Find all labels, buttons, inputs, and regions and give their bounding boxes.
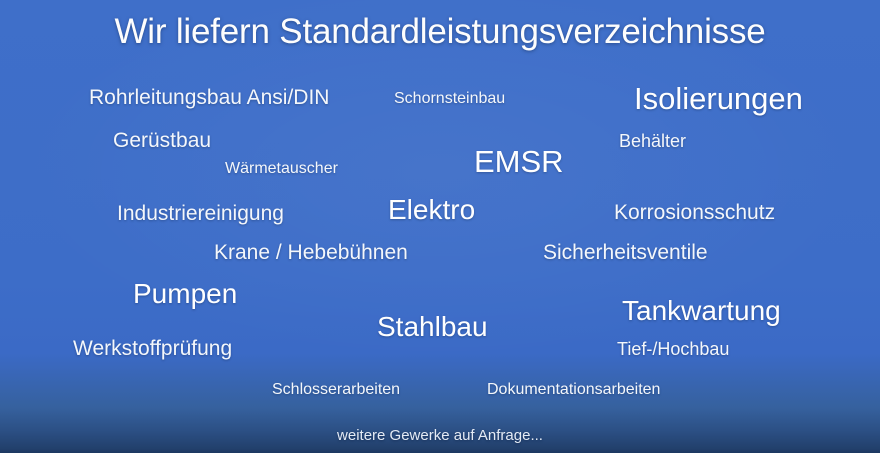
service-term: Isolierungen bbox=[634, 83, 803, 114]
service-term: Behälter bbox=[619, 132, 686, 150]
service-term: Dokumentationsarbeiten bbox=[487, 382, 660, 398]
slide-canvas: Wir liefern Standardleistungsverzeichnis… bbox=[0, 0, 880, 453]
service-term: Schornsteinbau bbox=[394, 91, 505, 107]
service-term: Elektro bbox=[388, 196, 475, 224]
service-term: Korrosionsschutz bbox=[614, 202, 775, 223]
service-term: Krane / Hebebühnen bbox=[214, 242, 408, 263]
footnote-text: weitere Gewerke auf Anfrage... bbox=[0, 427, 880, 444]
service-term: Industriereinigung bbox=[117, 203, 284, 224]
service-term: Wärmetauscher bbox=[225, 161, 338, 177]
service-term: Pumpen bbox=[133, 280, 237, 308]
service-term: Stahlbau bbox=[377, 313, 488, 341]
service-term: Sicherheitsventile bbox=[543, 242, 708, 263]
service-term: Schlosserarbeiten bbox=[272, 382, 400, 398]
service-term: Rohrleitungsbau Ansi/DIN bbox=[89, 87, 329, 108]
service-term: Werkstoffprüfung bbox=[73, 338, 232, 359]
page-title: Wir liefern Standardleistungsverzeichnis… bbox=[0, 12, 880, 52]
service-term: Tief-/Hochbau bbox=[617, 340, 729, 358]
service-term: Tankwartung bbox=[622, 297, 781, 325]
service-term: EMSR bbox=[474, 146, 564, 177]
service-term: Gerüstbau bbox=[113, 130, 211, 151]
